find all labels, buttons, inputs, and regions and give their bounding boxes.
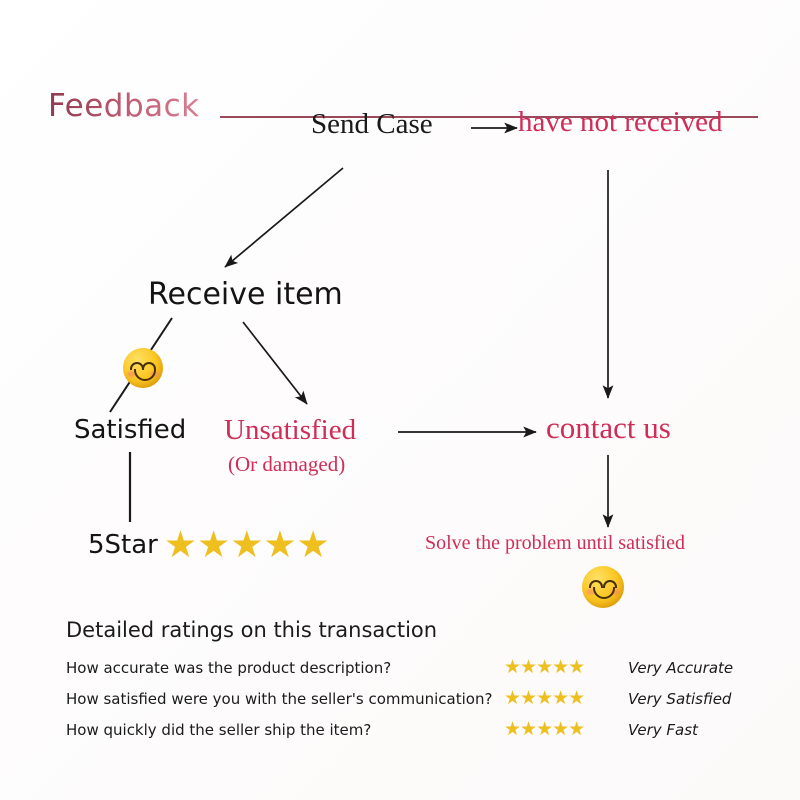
- arrow-receiveitem-to-unsatisfied: [243, 322, 307, 404]
- detailed-ratings-section: Detailed ratings on this transaction How…: [66, 618, 776, 747]
- rating-label: Very Satisfied: [628, 690, 731, 708]
- node-unsatisfied: Unsatisfied: [224, 414, 356, 447]
- rating-stars: ★★★★★: [504, 689, 628, 709]
- five-star-label: 5Star: [88, 530, 158, 560]
- emoji-mouth: [134, 369, 156, 381]
- rating-row: How quickly did the seller ship the item…: [66, 716, 776, 743]
- feedback-infographic: Feedback Send Case have not received Rec…: [0, 0, 800, 800]
- rating-label: Very Fast: [628, 721, 698, 739]
- rating-stars: ★★★★★: [504, 658, 628, 678]
- node-receive-item: Receive item: [148, 277, 343, 312]
- rating-row: How satisfied were you with the seller's…: [66, 685, 776, 712]
- detailed-ratings-heading: Detailed ratings on this transaction: [66, 618, 776, 642]
- star-icon-group: ★★★★★: [504, 689, 584, 708]
- five-star-row: 5Star ★★★★★: [88, 526, 330, 563]
- arrow-sendcase-to-receiveitem: [225, 168, 343, 267]
- rating-stars: ★★★★★: [504, 720, 628, 740]
- rating-row: How accurate was the product description…: [66, 654, 776, 681]
- node-contact-us: contact us: [546, 410, 671, 446]
- rating-question: How accurate was the product description…: [66, 659, 504, 677]
- rating-question: How quickly did the seller ship the item…: [66, 721, 504, 739]
- node-solve: Solve the problem until satisfied: [425, 532, 685, 555]
- star-icon-group: ★★★★★: [504, 658, 584, 677]
- star-icon-group: ★★★★★: [504, 720, 584, 739]
- header: Feedback: [0, 44, 800, 92]
- smiling-face-icon: [123, 348, 163, 388]
- node-send-case: Send Case: [311, 108, 433, 141]
- smiling-face-icon: [582, 566, 624, 608]
- node-or-damaged: (Or damaged): [228, 452, 345, 477]
- rating-question: How satisfied were you with the seller's…: [66, 690, 504, 708]
- star-icon-group: ★★★★★: [164, 526, 330, 563]
- node-have-not-received: have not received: [518, 106, 723, 139]
- rating-label: Very Accurate: [628, 659, 733, 677]
- node-satisfied: Satisfied: [74, 415, 186, 445]
- page-title: Feedback: [48, 88, 200, 124]
- emoji-mouth: [593, 587, 615, 599]
